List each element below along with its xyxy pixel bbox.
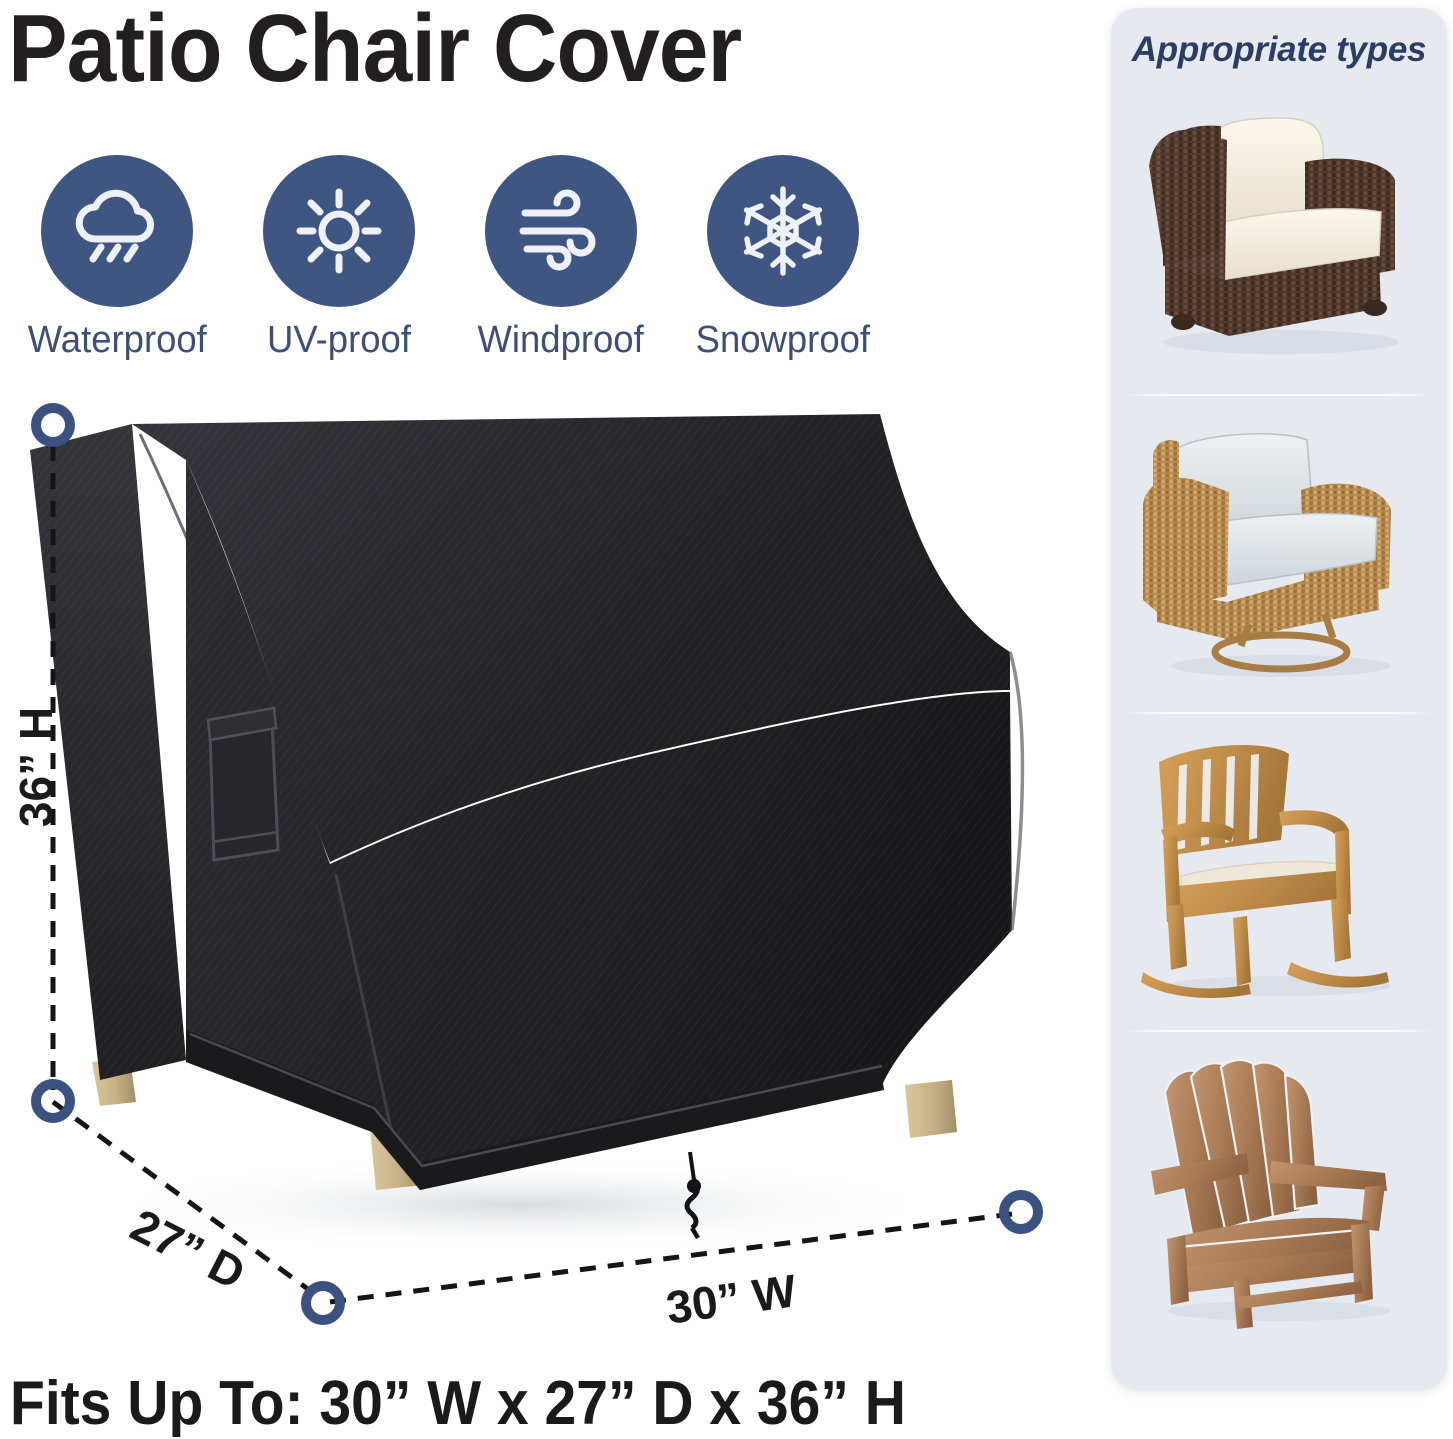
appropriate-types-panel: Appropriate types — [1111, 8, 1447, 1390]
rain-cloud-icon — [65, 179, 169, 283]
dimension-marker-top — [36, 408, 70, 442]
feature-uv-proof: UV-proof — [228, 155, 450, 362]
list-item[interactable] — [1111, 76, 1447, 394]
feature-label: Snowproof — [696, 319, 870, 362]
adirondack-chair-image — [1129, 1049, 1429, 1329]
sun-icon — [287, 179, 391, 283]
feature-label: Waterproof — [27, 319, 206, 362]
fits-up-to-text: Fits Up To: 30” W x 27” D x 36” H — [10, 1368, 906, 1439]
dark-wicker-club-chair-image — [1129, 100, 1429, 370]
wooden-rocking-chair-image — [1129, 736, 1429, 1006]
feature-label: UV-proof — [267, 319, 411, 362]
wind-icon — [509, 179, 613, 283]
page-title: Patio Chair Cover — [8, 0, 741, 104]
feature-badge-row: Waterproof UV-proof — [6, 155, 906, 362]
snowflake-icon — [731, 179, 835, 283]
cover-arm-edge — [1010, 652, 1022, 930]
chair-cover-drawing — [0, 390, 1080, 1340]
badge-circle-windproof — [485, 155, 637, 307]
feature-waterproof: Waterproof — [6, 155, 228, 362]
feature-windproof: Windproof — [450, 155, 672, 362]
badge-circle-waterproof — [41, 155, 193, 307]
feature-snowproof: Snowproof — [672, 155, 894, 362]
list-item[interactable] — [1111, 394, 1447, 712]
product-illustration — [0, 390, 1080, 1340]
list-item[interactable] — [1111, 1030, 1447, 1348]
dimension-label-height: 36” H — [9, 707, 63, 827]
feature-label: Windproof — [478, 319, 644, 362]
panel-title: Appropriate types — [1111, 30, 1447, 70]
list-item[interactable] — [1111, 712, 1447, 1030]
badge-circle-uv-proof — [263, 155, 415, 307]
side-pocket — [208, 708, 278, 860]
tan-wicker-swivel-chair-image — [1129, 418, 1429, 688]
chair-type-list — [1111, 76, 1447, 1348]
badge-circle-snowproof — [707, 155, 859, 307]
